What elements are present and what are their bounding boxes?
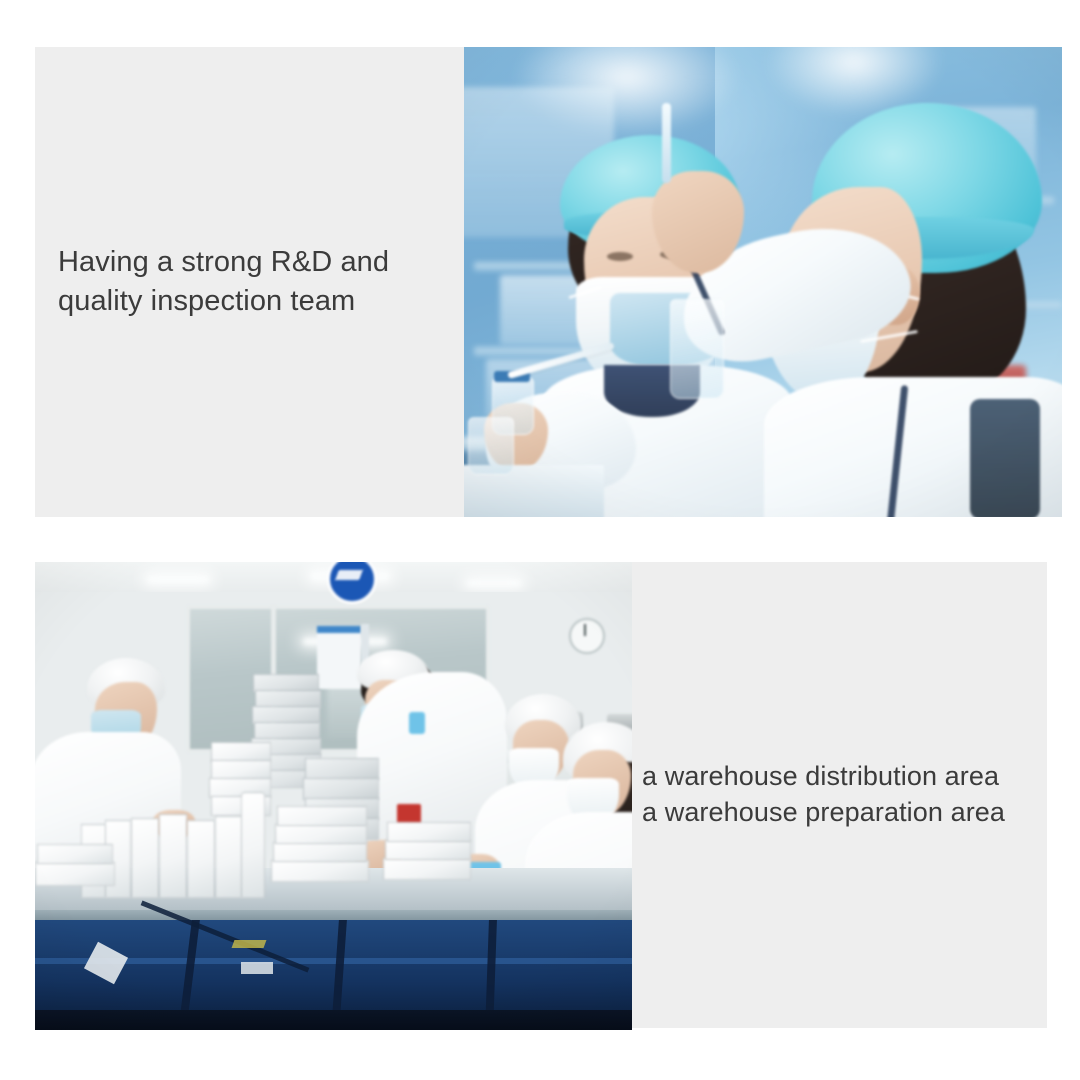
floor-shadow (35, 1010, 632, 1030)
table-flat-carton-6 (385, 840, 471, 860)
table-carton-4 (215, 816, 243, 898)
top-caption-panel: Having a strong R&D and quality inspecti… (35, 47, 467, 517)
bottom-caption-panel: a warehouse distribution area a warehous… (632, 562, 1047, 1028)
blue-sign-arrow (335, 570, 363, 580)
top-caption-text: Having a strong R&D and quality inspecti… (58, 243, 389, 320)
table-flat-carton-7 (387, 822, 471, 842)
ceiling-light-3 (467, 580, 521, 586)
under-yellow-marking (232, 940, 267, 948)
table-carton-2 (159, 814, 187, 898)
bottom-caption-text: a warehouse distribution area a warehous… (642, 759, 1005, 831)
wall-clock (569, 618, 605, 654)
carton-tower-1 (211, 742, 271, 762)
table-front-carton-2 (37, 844, 113, 864)
table-flat-carton-5 (383, 858, 471, 880)
table-flat-carton-4 (277, 806, 367, 826)
table-carton-1 (131, 818, 159, 898)
carton-tower-2 (211, 760, 271, 780)
lab-technicians-photo (464, 47, 1062, 517)
under-paper-2 (241, 962, 273, 974)
glass-dropper (662, 103, 671, 183)
carton-right-pile-1 (305, 758, 379, 780)
table-front-carton-1 (35, 862, 115, 886)
table-flat-carton-3 (275, 824, 367, 844)
warehouse-packing-photo (35, 562, 632, 1030)
table-bottle (241, 792, 265, 898)
table-flat-carton-2 (273, 842, 367, 862)
wall-poster (317, 626, 361, 689)
carton-right-pile-2 (303, 778, 379, 800)
bottom-section: a warehouse distribution area a warehous… (0, 520, 1080, 1080)
worker-bent-badge (409, 712, 425, 734)
lab-stand-dark (970, 399, 1040, 517)
table-carton-3 (187, 820, 215, 898)
table-flat-carton-1 (271, 860, 369, 882)
clock-hand (584, 624, 586, 636)
ceiling-light-1 (147, 576, 209, 583)
foreground-beaker (468, 417, 514, 475)
technician-a-eye-left (607, 252, 633, 261)
beaker-held (670, 299, 724, 399)
top-section: Having a strong R&D and quality inspecti… (0, 0, 1080, 520)
